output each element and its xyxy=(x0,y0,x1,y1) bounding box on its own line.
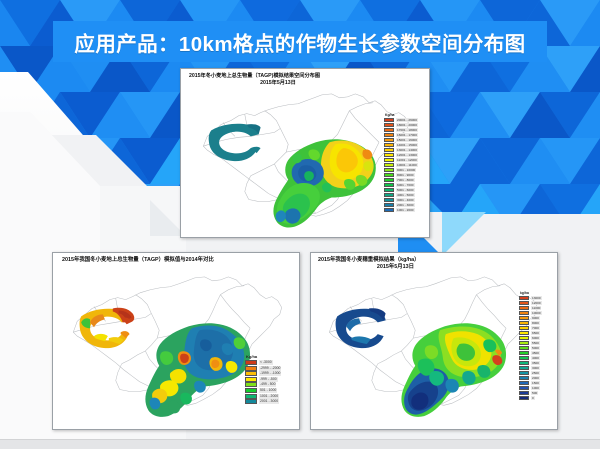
legend-label: 7001 - 8000 xyxy=(396,178,415,182)
legend-label: 14001 - 15000 xyxy=(396,143,418,147)
legend-entry: 9001 - 10000 xyxy=(384,168,418,172)
legend-entry: 6001 - 7000 xyxy=(384,183,418,187)
legend-swatch xyxy=(384,188,394,192)
legend-entry: 13001 - 14000 xyxy=(384,148,418,152)
legend-label: 4000 xyxy=(531,356,540,360)
legend-label: 6001 - 7000 xyxy=(396,183,415,187)
legend-label: 1500 xyxy=(531,381,540,385)
figure-title-top-line1: 2015年冬小麦地上总生物量（TAGP)模拟结果空间分布图 xyxy=(189,73,320,79)
legend-entry: 2001 - 3000 xyxy=(384,203,418,207)
legend-label: 5500 xyxy=(531,341,540,345)
legend-swatch xyxy=(384,153,394,157)
legend-entry: < -3000 xyxy=(245,360,281,365)
figure-title-br-line1: 2015年我国冬小麦穗重模拟结果（kg/ha） xyxy=(318,257,420,263)
figure-title-bottom-right: 2015年我国冬小麦穗重模拟结果（kg/ha） 2015年5月13日 xyxy=(311,253,557,271)
legend-swatch xyxy=(519,336,529,340)
legend-entry: 10001 - 11000 xyxy=(384,163,418,167)
legend-entry: 1001 - 2000 xyxy=(245,394,281,399)
legend-label: 500 xyxy=(531,391,538,395)
legend-swatch xyxy=(519,316,529,320)
legend-entry: 16001 - 17000 xyxy=(384,133,418,137)
figure-title-bottom-left: 2015年我国冬小麦地上总生物量（TAGP）模拟值与2014年对比 xyxy=(53,253,299,264)
legend-top-entries: 20001 - 2600018001 - 2000017001 - 180001… xyxy=(384,118,418,212)
legend-entry: 10000 xyxy=(519,311,542,315)
legend-label: -499 - 500 xyxy=(259,382,276,387)
legend-swatch xyxy=(519,386,529,390)
legend-swatch xyxy=(519,356,529,360)
legend-bottom-left: Kg/ha < -3000-2999 - -2000-1999 - -1000-… xyxy=(245,354,281,405)
legend-swatch xyxy=(245,366,257,371)
legend-entry: 5500 xyxy=(519,341,542,345)
legend-swatch xyxy=(384,133,394,137)
legend-entry: 500 xyxy=(519,391,542,395)
legend-entry: 8000 xyxy=(519,321,542,325)
legend-label: 2500 xyxy=(531,371,540,375)
legend-entry: 20001 - 26000 xyxy=(384,118,418,122)
legend-entry: 15001 - 16000 xyxy=(384,138,418,142)
legend-label: 1001 - 2000 xyxy=(396,208,415,212)
legend-label: 18001 - 20000 xyxy=(396,123,418,127)
legend-label: 16001 - 17000 xyxy=(396,133,418,137)
legend-entry: 7000 xyxy=(519,326,542,330)
legend-entry: 12000 xyxy=(519,301,542,305)
legend-entry: 14001 - 15000 xyxy=(384,143,418,147)
legend-label: 7000 xyxy=(531,326,540,330)
slide-title-bar: 应用产品：10km格点的作物生长参数空间分布图 xyxy=(53,21,547,62)
legend-entry: 4001 - 5000 xyxy=(384,193,418,197)
legend-swatch xyxy=(384,193,394,197)
legend-bl-entries: < -3000-2999 - -2000-1999 - -1000-999 - … xyxy=(245,360,281,404)
legend-swatch xyxy=(384,118,394,122)
legend-label: 5001 - 6000 xyxy=(396,188,415,192)
legend-swatch xyxy=(384,208,394,212)
legend-swatch xyxy=(519,346,529,350)
legend-swatch xyxy=(384,138,394,142)
legend-entry: 11001 - 12000 xyxy=(384,158,418,162)
legend-swatch xyxy=(519,301,529,305)
slide-bottom-strip xyxy=(0,439,600,449)
legend-entry: -999 - -500 xyxy=(245,377,281,382)
legend-label: 3000 xyxy=(531,366,540,370)
legend-entry: 2500 xyxy=(519,371,542,375)
legend-swatch xyxy=(245,394,257,399)
legend-label: 2001 - 3000 xyxy=(396,203,415,207)
legend-label: 2001 - 3000 xyxy=(259,399,279,404)
legend-swatch xyxy=(384,158,394,162)
legend-label: 9001 - 10000 xyxy=(396,168,416,172)
legend-entry: -1999 - -1000 xyxy=(245,371,281,376)
legend-swatch xyxy=(519,351,529,355)
figure-title-bl-line1: 2015年我国冬小麦地上总生物量（TAGP）模拟值与2014年对比 xyxy=(62,257,214,263)
legend-br-header: kg/ha xyxy=(519,291,542,295)
legend-label: 6500 xyxy=(531,331,540,335)
legend-entry: 2001 - 3000 xyxy=(245,399,281,404)
legend-label: 2000 xyxy=(531,376,540,380)
legend-swatch xyxy=(384,168,394,172)
legend-label: 20001 - 26000 xyxy=(396,118,418,122)
legend-label: -999 - -500 xyxy=(259,377,278,382)
legend-label: 10000 xyxy=(531,311,542,315)
legend-entry: -499 - 500 xyxy=(245,382,281,387)
legend-entry: 2000 xyxy=(519,376,542,380)
legend-swatch xyxy=(245,399,257,404)
legend-label: 6000 xyxy=(531,336,540,340)
legend-label: 13001 - 14000 xyxy=(396,148,418,152)
legend-entry: 13000 xyxy=(519,296,542,300)
legend-entry: 3500 xyxy=(519,361,542,365)
legend-swatch xyxy=(519,366,529,370)
legend-top: Kg/ha 20001 - 2600018001 - 2000017001 - … xyxy=(384,113,418,213)
legend-label: 13000 xyxy=(531,296,542,300)
legend-label: 4500 xyxy=(531,351,540,355)
legend-label: 12001 - 13000 xyxy=(396,153,418,157)
legend-label: 4001 - 5000 xyxy=(396,193,415,197)
legend-swatch xyxy=(384,203,394,207)
legend-label: 5000 xyxy=(531,346,540,350)
legend-swatch xyxy=(519,391,529,395)
legend-swatch xyxy=(519,331,529,335)
legend-entry: 3001 - 4000 xyxy=(384,198,418,202)
legend-swatch xyxy=(245,360,257,365)
legend-label: 15001 - 16000 xyxy=(396,138,418,142)
legend-br-entries: 1300012000110001000090008000700065006000… xyxy=(519,296,542,400)
legend-label: -1999 - -1000 xyxy=(259,371,281,376)
legend-label: 3001 - 4000 xyxy=(396,198,415,202)
legend-label: 1001 - 2000 xyxy=(259,394,279,399)
legend-label: 9000 xyxy=(531,316,540,320)
legend-swatch xyxy=(245,382,257,387)
legend-entry: 18001 - 20000 xyxy=(384,123,418,127)
legend-entry: 8001 - 9000 xyxy=(384,173,418,177)
legend-swatch xyxy=(519,371,529,375)
legend-swatch xyxy=(384,128,394,132)
legend-swatch xyxy=(384,198,394,202)
legend-label: 0 xyxy=(531,396,535,400)
legend-label: 8000 xyxy=(531,321,540,325)
slide-canvas: 应用产品：10km格点的作物生长参数空间分布图 2015年冬小麦地上总生物量（T… xyxy=(0,0,600,449)
legend-entry: 4000 xyxy=(519,356,542,360)
legend-entry: 1500 xyxy=(519,381,542,385)
legend-swatch xyxy=(519,341,529,345)
legend-swatch xyxy=(384,173,394,177)
legend-entry: 9000 xyxy=(519,316,542,320)
legend-entry: 17001 - 18000 xyxy=(384,128,418,132)
legend-swatch xyxy=(245,388,257,393)
figure-title-top: 2015年冬小麦地上总生物量（TAGP)模拟结果空间分布图 2015年5月13日 xyxy=(181,69,429,86)
legend-label: 17001 - 18000 xyxy=(396,128,418,132)
legend-label: 10001 - 11000 xyxy=(396,163,418,167)
legend-entry: 0 xyxy=(519,396,542,400)
legend-label: 501 - 1000 xyxy=(259,388,277,393)
legend-swatch xyxy=(519,306,529,310)
legend-entry: 5001 - 6000 xyxy=(384,188,418,192)
legend-entry: 6000 xyxy=(519,336,542,340)
legend-swatch xyxy=(245,371,257,376)
legend-entry: 11000 xyxy=(519,306,542,310)
legend-swatch xyxy=(384,143,394,147)
legend-label: -2999 - -2000 xyxy=(259,366,281,371)
legend-swatch xyxy=(384,163,394,167)
legend-entry: -2999 - -2000 xyxy=(245,366,281,371)
legend-entry: 1000 xyxy=(519,386,542,390)
legend-entry: 3000 xyxy=(519,366,542,370)
legend-label: 12000 xyxy=(531,301,542,305)
legend-bl-header: Kg/ha xyxy=(245,354,281,359)
legend-swatch xyxy=(519,321,529,325)
legend-swatch xyxy=(519,381,529,385)
legend-top-header: Kg/ha xyxy=(384,113,418,117)
legend-label: < -3000 xyxy=(259,360,273,365)
page-title: 应用产品：10km格点的作物生长参数空间分布图 xyxy=(74,27,525,57)
legend-entry: 12001 - 13000 xyxy=(384,153,418,157)
legend-swatch xyxy=(384,148,394,152)
legend-swatch xyxy=(519,326,529,330)
legend-entry: 5000 xyxy=(519,346,542,350)
legend-swatch xyxy=(519,311,529,315)
legend-bottom-right: kg/ha 1300012000110001000090008000700065… xyxy=(519,291,542,401)
legend-entry: 1001 - 2000 xyxy=(384,208,418,212)
legend-swatch xyxy=(245,377,257,382)
legend-swatch xyxy=(384,123,394,127)
legend-label: 11000 xyxy=(531,306,541,310)
legend-swatch xyxy=(384,178,394,182)
legend-swatch xyxy=(519,376,529,380)
legend-swatch xyxy=(384,183,394,187)
legend-entry: 6500 xyxy=(519,331,542,335)
legend-swatch xyxy=(519,296,529,300)
legend-label: 3500 xyxy=(531,361,540,365)
legend-label: 11001 - 12000 xyxy=(396,158,418,162)
legend-swatch xyxy=(519,361,529,365)
legend-label: 1000 xyxy=(531,386,540,390)
legend-swatch xyxy=(519,396,529,400)
legend-entry: 4500 xyxy=(519,351,542,355)
legend-label: 8001 - 9000 xyxy=(396,173,415,177)
legend-entry: 7001 - 8000 xyxy=(384,178,418,182)
legend-entry: 501 - 1000 xyxy=(245,388,281,393)
